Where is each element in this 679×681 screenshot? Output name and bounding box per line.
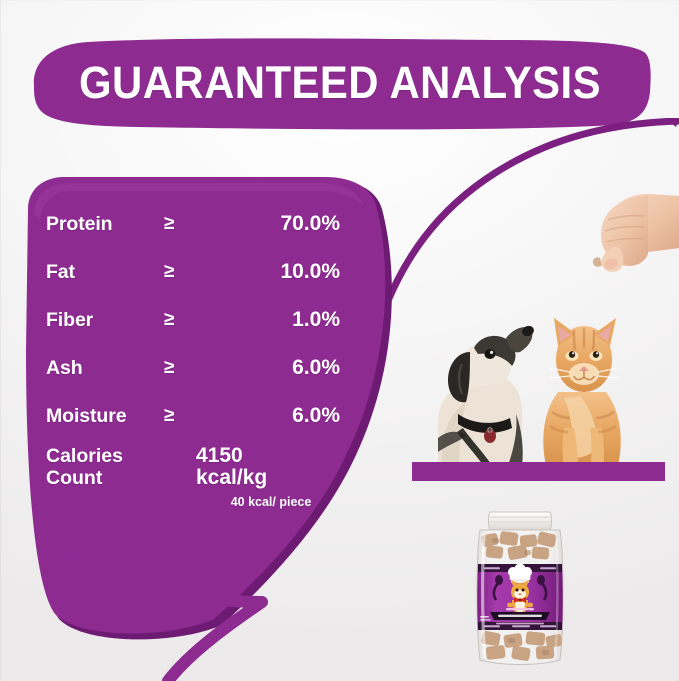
- nutrient-value: 6.0%: [208, 404, 346, 428]
- nutrient-value: 10.0%: [208, 260, 346, 284]
- nutrient-value: 70.0%: [208, 212, 346, 236]
- table-row: Ash ≥ 6.0%: [46, 351, 346, 385]
- calories-value-amount: 4150: [196, 445, 346, 467]
- nutrient-operator: ≥: [164, 213, 208, 235]
- nutrient-operator: ≥: [164, 309, 208, 331]
- nutrient-label: Fat: [46, 261, 164, 284]
- calories-value: 4150 kcal/kg: [196, 445, 346, 489]
- nutrient-operator: ≥: [164, 405, 208, 427]
- calories-label: Calories Count: [46, 445, 196, 489]
- calories-label-line1: Calories: [46, 445, 196, 467]
- nutrition-table: Protein ≥ 70.0% Fat ≥ 10.0% Fiber ≥ 1.0%…: [26, 175, 366, 655]
- header-banner: GUARANTEED ANALYSIS: [28, 36, 652, 130]
- pedestal-bar: [412, 462, 665, 481]
- calories-per-piece: 40 kcal/ piece: [196, 495, 346, 509]
- nutrient-operator: ≥: [164, 261, 208, 283]
- nutrient-operator: ≥: [164, 357, 208, 379]
- nutrient-label: Moisture: [46, 405, 164, 428]
- nutrient-label: Ash: [46, 357, 164, 380]
- nutrient-label: Protein: [46, 213, 164, 236]
- nutrient-label: Fiber: [46, 309, 164, 332]
- table-row: Protein ≥ 70.0%: [46, 207, 346, 241]
- table-row: Fiber ≥ 1.0%: [46, 303, 346, 337]
- calories-value-unit: kcal/kg: [196, 467, 346, 489]
- nutrient-value: 1.0%: [208, 308, 346, 332]
- table-row: Moisture ≥ 6.0%: [46, 399, 346, 433]
- table-row: Fat ≥ 10.0%: [46, 255, 346, 289]
- nutrient-value: 6.0%: [208, 356, 346, 380]
- page-title: GUARANTEED ANALYSIS: [50, 36, 630, 130]
- calories-label-line2: Count: [46, 467, 196, 489]
